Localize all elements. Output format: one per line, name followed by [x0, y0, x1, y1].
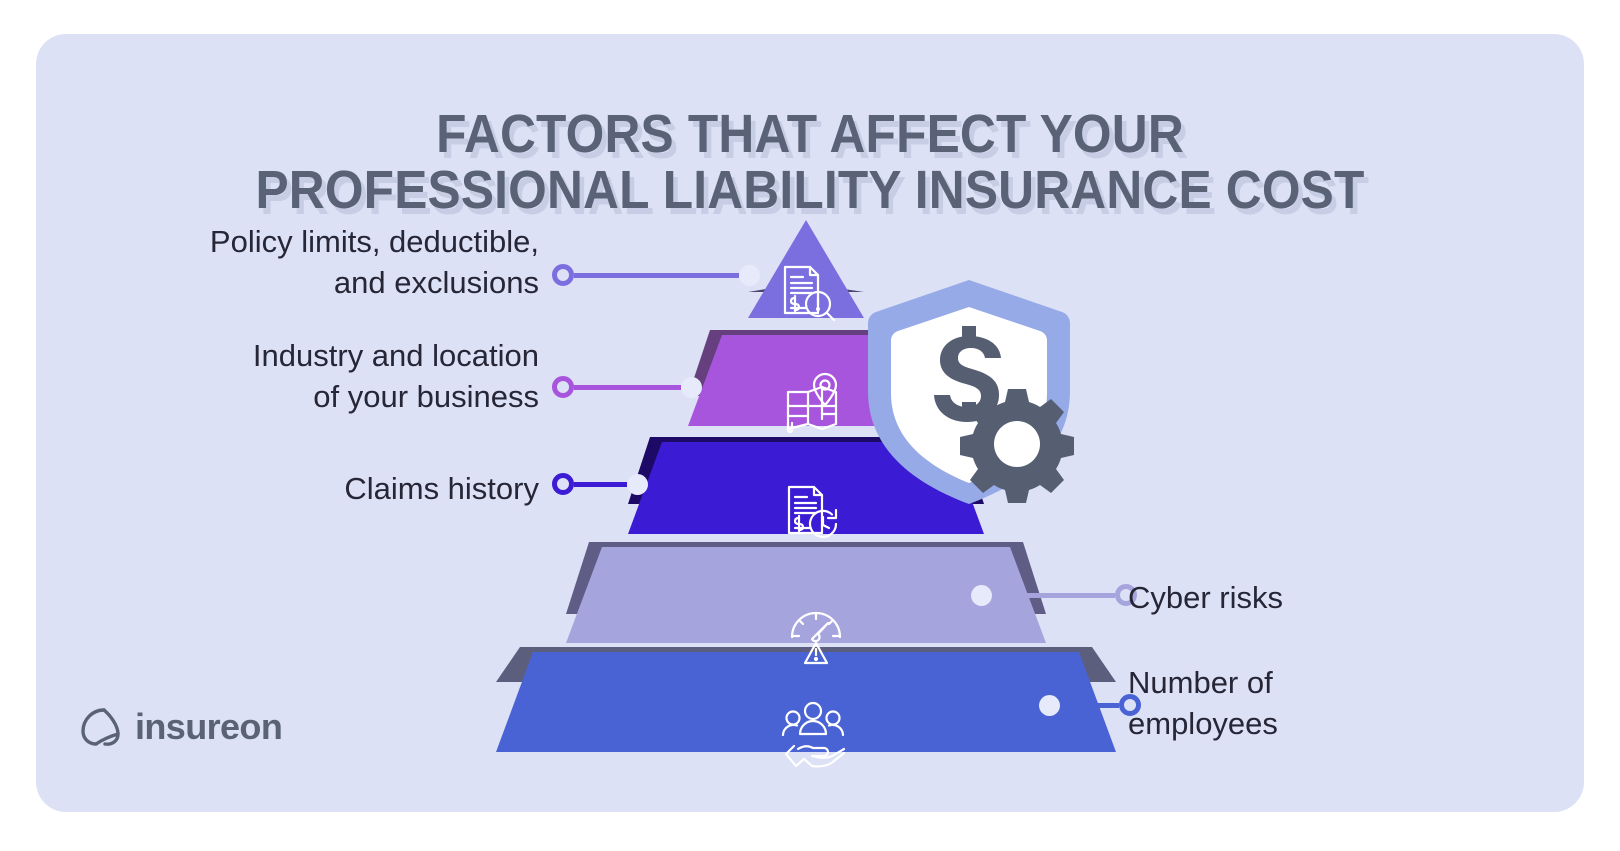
- connector-tier-employees: [1039, 692, 1141, 718]
- connector-endpoint-open-icon: [552, 376, 574, 398]
- connector-endpoint-solid-icon: [681, 377, 702, 398]
- tier-label-claims: Claims history: [69, 469, 539, 510]
- connector-line: [574, 482, 627, 487]
- connector-tier-industry: [552, 374, 702, 400]
- infographic-panel: Factors that affect your Professional li…: [36, 34, 1584, 812]
- connector-tier-claims: [552, 471, 648, 497]
- tier-label-industry: Industry and location of your business: [69, 336, 539, 418]
- insureon-mark-icon: [80, 706, 126, 748]
- connector-tier-cyber: [971, 582, 1137, 608]
- gear-icon: [960, 389, 1074, 503]
- connector-line: [992, 593, 1115, 598]
- tier-label-cyber: Cyber risks: [1128, 578, 1508, 619]
- connector-endpoint-solid-icon: [1039, 695, 1060, 716]
- connector-line: [1060, 703, 1119, 708]
- connector-tier-policy: [552, 262, 760, 288]
- tier-label-policy: Policy limits, deductible, and exclusion…: [69, 222, 539, 304]
- connector-endpoint-solid-icon: [971, 585, 992, 606]
- connector-endpoint-open-icon: [552, 473, 574, 495]
- connector-endpoint-solid-icon: [739, 265, 760, 286]
- connector-line: [574, 385, 681, 390]
- insureon-wordmark: insureon: [135, 706, 282, 748]
- connector-endpoint-open-icon: [552, 264, 574, 286]
- tier-label-employees: Number of employees: [1128, 663, 1508, 745]
- connector-line: [574, 273, 739, 278]
- insureon-logo: insureon: [80, 706, 282, 748]
- connector-endpoint-solid-icon: [627, 474, 648, 495]
- shield-dollar-gear-emblem: [854, 274, 1084, 504]
- tier-employees-face: [496, 652, 1116, 752]
